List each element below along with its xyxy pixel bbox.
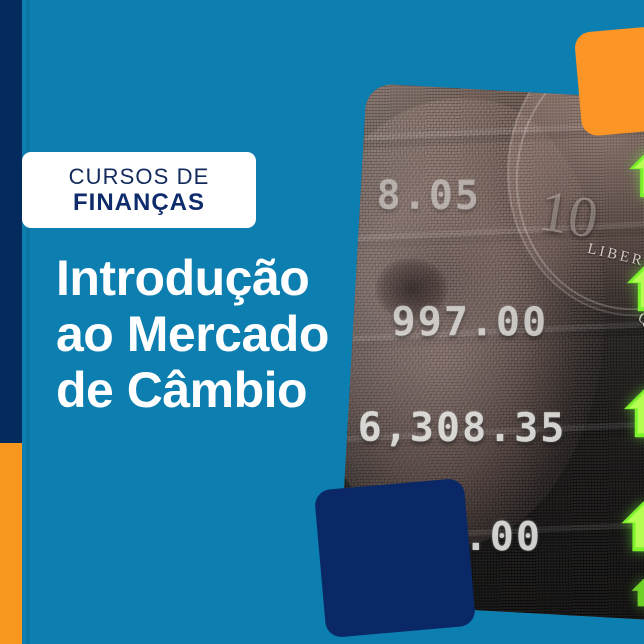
badge-label-line2: FINANÇAS <box>73 190 205 215</box>
course-title: Introdução ao Mercado de Câmbio <box>56 250 396 418</box>
background-seam-line <box>26 0 30 644</box>
course-category-badge: CURSOS DE FINANÇAS <box>22 152 256 228</box>
course-title-line1: Introdução <box>56 250 396 306</box>
accent-bar-navy-segment <box>0 0 22 443</box>
accent-bar-orange-segment <box>0 443 22 644</box>
navy-rounded-square <box>314 478 476 639</box>
badge-label-line1: CURSOS DE <box>69 165 210 188</box>
arrow-up-icon <box>623 385 644 439</box>
arrow-up-icon <box>628 145 644 199</box>
ticker-value-1: 8.05 <box>377 173 481 219</box>
arrow-up-icon <box>626 259 644 313</box>
course-title-line3: de Câmbio <box>56 362 396 418</box>
orange-rounded-square <box>574 23 644 137</box>
arrow-up-icon <box>620 499 644 553</box>
course-banner: 10 LIBERTY QUA 8.05 997.00 6,308.35 95.0… <box>0 0 644 644</box>
course-title-line2: ao Mercado <box>56 306 396 362</box>
arrow-up-icon <box>621 577 644 607</box>
ticker-value-2: 997.00 <box>392 299 549 346</box>
left-accent-bar <box>0 0 22 644</box>
